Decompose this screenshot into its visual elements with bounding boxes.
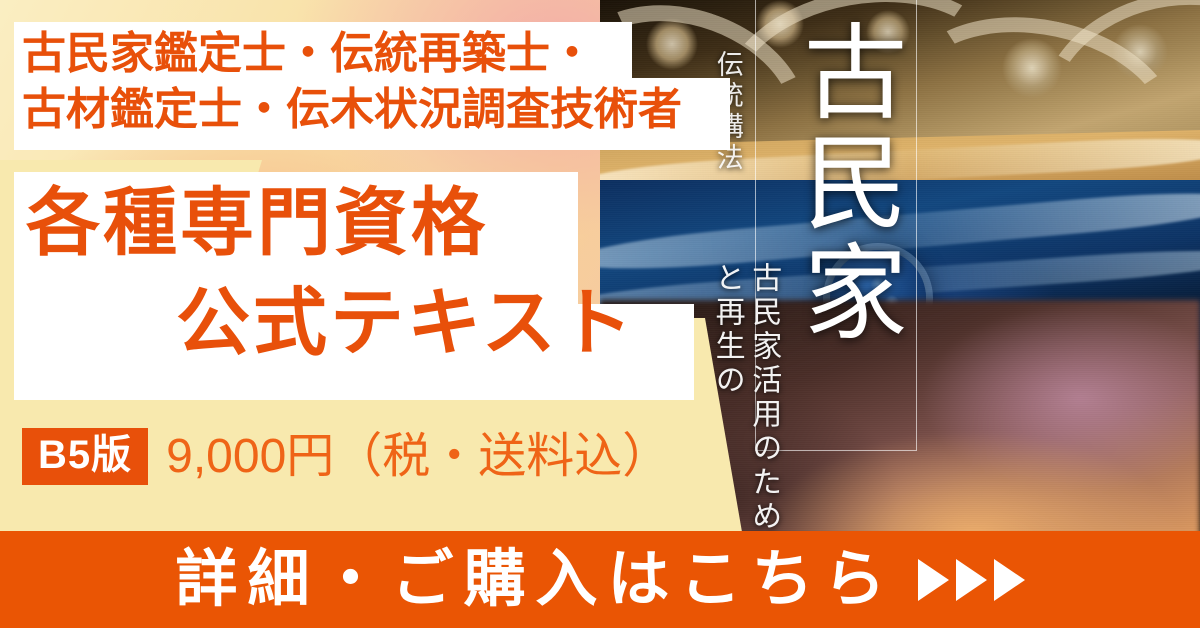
headline-block: 古民家鑑定士・伝統再築士・ 古材鑑定士・伝木状況調査技術者 (22, 26, 722, 139)
cta-arrows (918, 559, 1025, 601)
title-line-2: 公式テキスト (176, 286, 636, 360)
triangle-right-icon (956, 559, 987, 601)
promo-banner: 古民家 伝統構法 古民家活用のための調査と再生の 古民家鑑定士・伝統再築士・ 古… (0, 0, 1200, 628)
title-line-1: 各種専門資格 (26, 186, 488, 260)
cta-bar[interactable]: 詳細・ご購入はこちら (0, 531, 1200, 628)
headline-line-2: 古材鑑定士・伝木状況調査技術者 (22, 82, 722, 138)
cta-label: 詳細・ご購入はこちら (175, 549, 895, 611)
triangle-right-icon (994, 559, 1025, 601)
cover-main-title: 古民家 (772, 18, 900, 348)
headline-line-1: 古民家鑑定士・伝統再築士・ (22, 26, 722, 82)
triangle-right-icon (918, 559, 949, 601)
price-row: B5版 9,000円（税・送料込） (22, 428, 670, 485)
price-label: 9,000円（税・送料込） (166, 433, 670, 481)
format-badge: B5版 (22, 428, 148, 485)
